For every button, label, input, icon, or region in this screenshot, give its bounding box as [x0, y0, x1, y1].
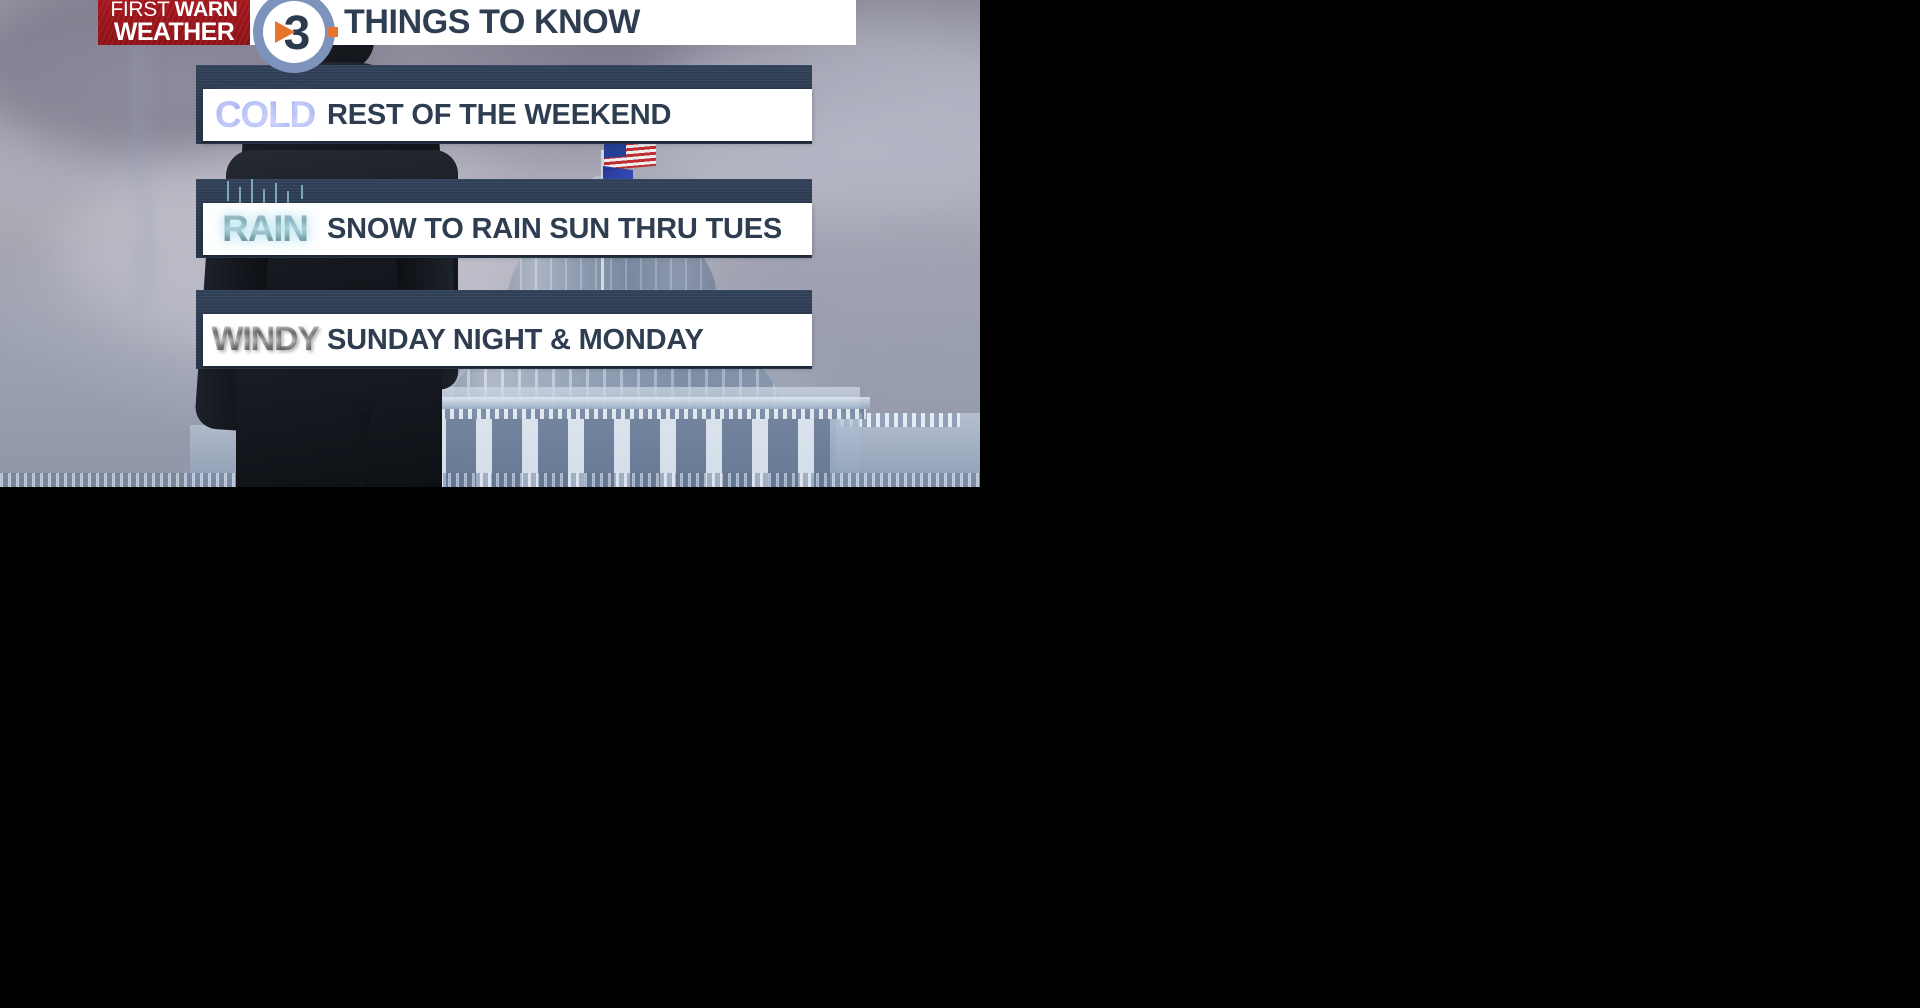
statue-cane-handle — [352, 398, 376, 412]
row-headline: SNOW TO RAIN SUN THRU TUES — [327, 213, 782, 246]
capitol-cornice — [392, 397, 870, 409]
channel-3-logo: 3 — [250, 0, 338, 76]
cold-badge: COLD — [203, 96, 327, 135]
row-headline: REST OF THE WEEKEND — [327, 99, 671, 132]
logo-weather-word: WEATHER — [114, 21, 234, 45]
windy-badge: WINDY — [203, 322, 327, 358]
page-title: THINGS TO KNOW — [344, 0, 640, 45]
header-bar: FIRST WARN WEATHER 3 THINGS TO KNOW — [98, 0, 856, 45]
weather-graphic-canvas: FIRST WARN WEATHER 3 THINGS TO KNOW COLD… — [0, 0, 980, 487]
capitol-dentil-molding — [396, 409, 866, 419]
rain-badge: RAIN — [203, 210, 327, 249]
us-flag-icon — [604, 140, 656, 171]
row-panel: RAIN SNOW TO RAIN SUN THRU TUES — [203, 203, 812, 255]
row-headline: SUNDAY NIGHT & MONDAY — [327, 324, 704, 357]
statue-highlight — [130, 190, 152, 310]
first-warn-weather-logo: FIRST WARN WEATHER — [98, 0, 250, 45]
row-panel: COLD REST OF THE WEEKEND — [203, 89, 812, 141]
row-panel: WINDY SUNDAY NIGHT & MONDAY — [203, 314, 812, 366]
logo-line-1: FIRST WARN — [110, 0, 237, 20]
